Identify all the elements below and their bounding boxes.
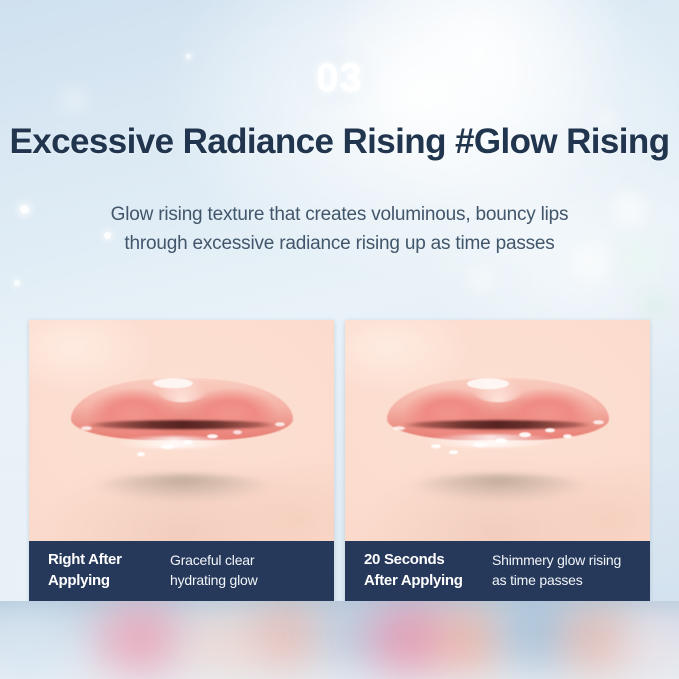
bokeh-blur-circle bbox=[640, 292, 670, 320]
bottom-blur-strip bbox=[0, 601, 679, 679]
promo-page: 03 Excessive Radiance Rising #Glow Risin… bbox=[0, 0, 679, 679]
lip-gloss-highlight bbox=[495, 438, 507, 443]
caption-label: 20 Seconds After Applying bbox=[364, 550, 492, 591]
comparison-panels: Right After Applying Graceful clear hydr… bbox=[29, 320, 650, 601]
lips-photo-before bbox=[29, 320, 334, 541]
lip-gloss-highlight bbox=[207, 434, 218, 438]
mouth-line bbox=[87, 420, 277, 429]
lip-gloss-highlight bbox=[431, 444, 441, 448]
comparison-panel-after: 20 Seconds After Applying Shimmery glow … bbox=[345, 320, 650, 601]
lip-gloss-highlight bbox=[545, 428, 555, 432]
lip-gloss-highlight bbox=[563, 434, 572, 438]
lips-illustration bbox=[57, 370, 307, 502]
lip-gloss-highlight bbox=[393, 426, 405, 430]
bokeh-dot bbox=[14, 280, 20, 286]
lip-gloss-highlight bbox=[137, 452, 145, 456]
blur-blob bbox=[250, 601, 326, 671]
caption-label: Right After Applying bbox=[48, 550, 170, 591]
lip-gloss-highlight bbox=[233, 430, 242, 434]
page-title: Excessive Radiance Rising #Glow Rising bbox=[0, 122, 679, 161]
blur-blob bbox=[0, 615, 70, 679]
panel-caption-after: 20 Seconds After Applying Shimmery glow … bbox=[345, 541, 650, 601]
lips-illustration bbox=[373, 370, 623, 502]
page-subtitle-line-1: Glow rising texture that creates volumin… bbox=[0, 200, 679, 229]
bokeh-blur-circle bbox=[468, 268, 494, 292]
lip-gloss-highlight bbox=[275, 422, 285, 426]
blur-blob bbox=[182, 611, 262, 677]
page-subtitle: Glow rising texture that creates volumin… bbox=[0, 200, 679, 259]
caption-description: Graceful clear hydrating glow bbox=[170, 551, 257, 591]
lip-gloss-highlight bbox=[593, 420, 604, 424]
comparison-panel-before: Right After Applying Graceful clear hydr… bbox=[29, 320, 334, 601]
lip-gloss-highlight bbox=[81, 426, 92, 430]
lip-drop-shadow bbox=[407, 474, 591, 502]
lip-gloss-highlight bbox=[449, 450, 458, 454]
page-subtitle-line-2: through excessive radiance rising up as … bbox=[0, 229, 679, 258]
step-number: 03 bbox=[0, 58, 679, 98]
blur-blob bbox=[96, 603, 184, 675]
lips-photo-after bbox=[345, 320, 650, 541]
lip-gloss-highlight bbox=[183, 440, 193, 444]
lip-gloss-highlight bbox=[473, 442, 487, 447]
blur-blob bbox=[626, 611, 679, 673]
light-beam-glow bbox=[330, 0, 630, 220]
panel-caption-before: Right After Applying Graceful clear hydr… bbox=[29, 541, 334, 601]
lip-gloss-band bbox=[115, 436, 233, 448]
lip-gloss-highlight bbox=[519, 432, 531, 437]
lip-gloss-highlight bbox=[467, 378, 509, 389]
caption-description: Shimmery glow rising as time passes bbox=[492, 551, 621, 591]
lip-gloss-highlight bbox=[153, 378, 193, 388]
blur-blob bbox=[432, 609, 508, 673]
mouth-line bbox=[403, 420, 593, 429]
lip-drop-shadow bbox=[91, 474, 275, 502]
lip-gloss-highlight bbox=[161, 444, 174, 449]
lip-gloss-band bbox=[425, 434, 557, 447]
